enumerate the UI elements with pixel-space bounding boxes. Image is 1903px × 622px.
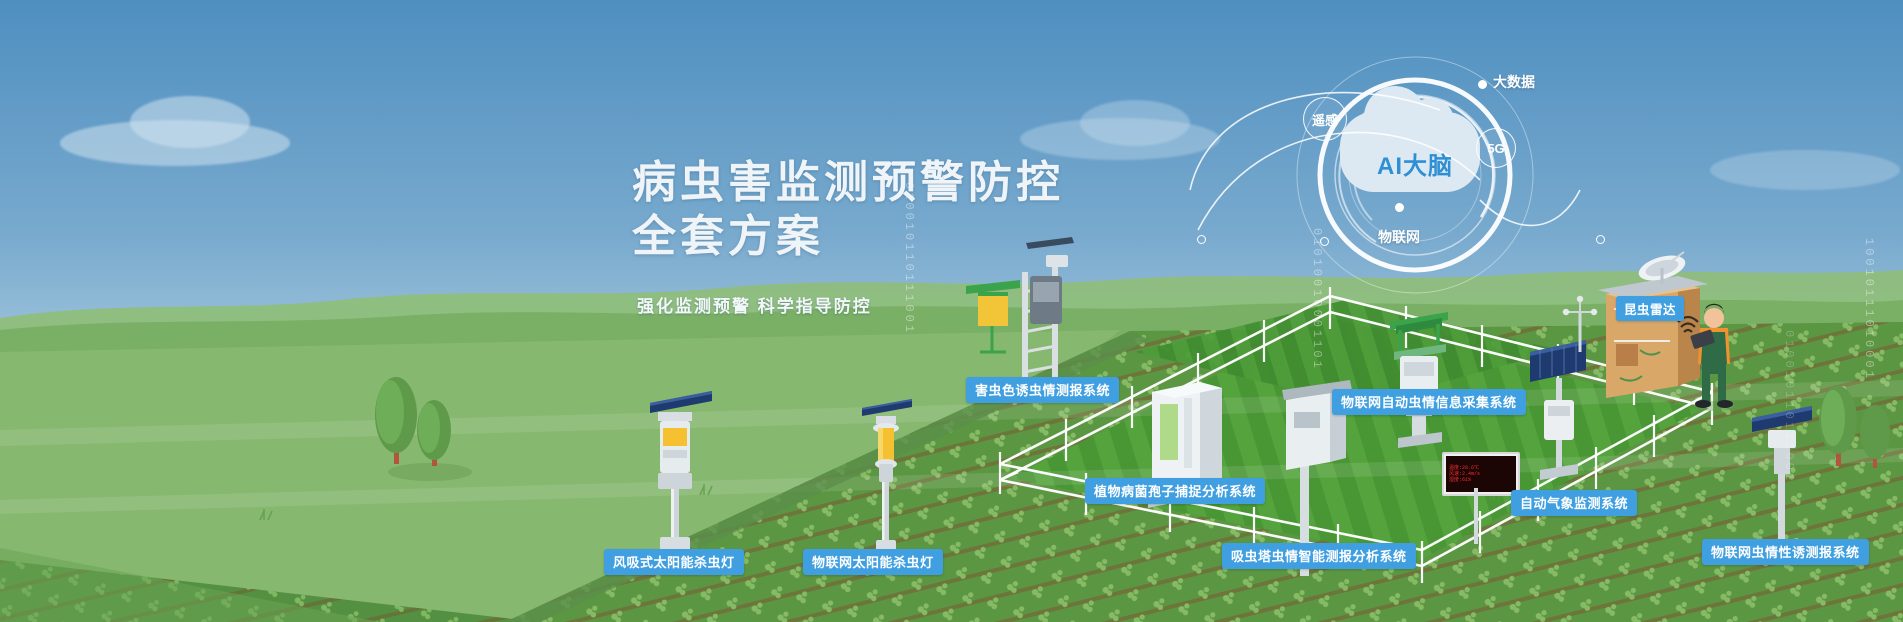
node-dot-hollow xyxy=(1320,237,1329,246)
node-remote-sensing[interactable]: 遥感 xyxy=(1303,97,1347,141)
node-dot-hollow xyxy=(1596,235,1605,244)
led-line: 湿度:61% xyxy=(1449,478,1513,483)
node-dot-iot xyxy=(1395,203,1404,212)
binary-decor: 10010111010001 xyxy=(1862,238,1876,381)
led-line: 温度:28.6℃ xyxy=(1449,466,1513,471)
binary-decor: 010010110111001 xyxy=(1782,330,1796,483)
ai-brain-label: AI大脑 xyxy=(1290,146,1540,181)
label-iot-auto-pest-collect[interactable]: 物联网自动虫情信息采集系统 xyxy=(1332,389,1526,415)
poster-canvas: 温度:28.6℃ 风速:2.4m/s 湿度:61% 01001011011100… xyxy=(0,0,1903,622)
page-title: 病虫害监测预警防控 全套方案 xyxy=(632,156,1064,263)
label-suction-tower-forecast[interactable]: 吸虫塔虫情智能测报分析系统 xyxy=(1222,543,1416,569)
page-title-line-1: 病虫害监测预警防控 xyxy=(632,156,1064,210)
label-color-lure-pest-forecast[interactable]: 害虫色诱虫情测报系统 xyxy=(966,377,1119,403)
node-label: 遥感 xyxy=(1312,110,1338,129)
node-dot-big-data xyxy=(1478,80,1487,89)
label-spore-capture-analysis[interactable]: 植物病菌孢子捕捉分析系统 xyxy=(1085,478,1265,504)
page-title-line-2: 全套方案 xyxy=(632,210,1064,264)
label-wind-suction-solar-lamp[interactable]: 风吸式太阳能杀虫灯 xyxy=(604,549,744,575)
label-iot-pheromone-forecast[interactable]: 物联网虫情性诱测报系统 xyxy=(1702,539,1869,565)
label-auto-weather-monitor[interactable]: 自动气象监测系统 xyxy=(1511,490,1637,516)
page-subtitle: 强化监测预警 科学指导防控 xyxy=(637,292,872,317)
led-weather-board: 温度:28.6℃ 风速:2.4m/s 湿度:61% xyxy=(1442,452,1520,496)
node-dot-hollow xyxy=(1197,235,1206,244)
led-line: 风速:2.4m/s xyxy=(1449,472,1513,477)
label-iot-solar-lamp[interactable]: 物联网太阳能杀虫灯 xyxy=(803,549,943,575)
tag-iot: 物联网 xyxy=(1378,227,1420,247)
tag-big-data: 大数据 xyxy=(1493,72,1535,92)
led-board-pole xyxy=(1474,488,1478,544)
label-insect-radar[interactable]: 昆虫雷达 xyxy=(1616,296,1684,321)
